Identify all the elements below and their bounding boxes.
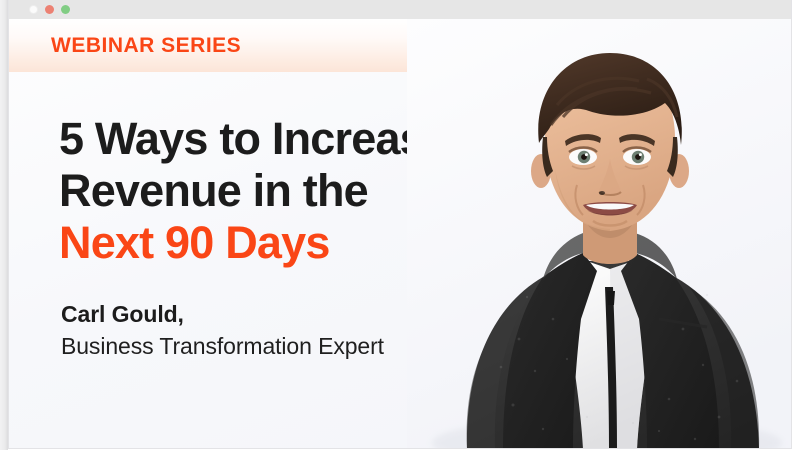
webinar-series-eyebrow: WEBINAR SERIES: [51, 34, 241, 58]
window-maximize-button[interactable]: [61, 5, 70, 14]
window-titlebar: [9, 0, 792, 19]
speaker-portrait: [407, 19, 792, 449]
window-close-button[interactable]: [29, 5, 38, 14]
window-minimize-button[interactable]: [45, 5, 54, 14]
browser-window: WEBINAR SERIES: [8, 0, 792, 449]
speaker-title: Business Transformation Expert: [61, 330, 384, 362]
webinar-slide: WEBINAR SERIES: [9, 19, 792, 449]
page-left-edge: [0, 0, 8, 450]
speaker-block: Carl Gould, Business Transformation Expe…: [61, 299, 384, 362]
speaker-name: Carl Gould,: [61, 299, 384, 330]
